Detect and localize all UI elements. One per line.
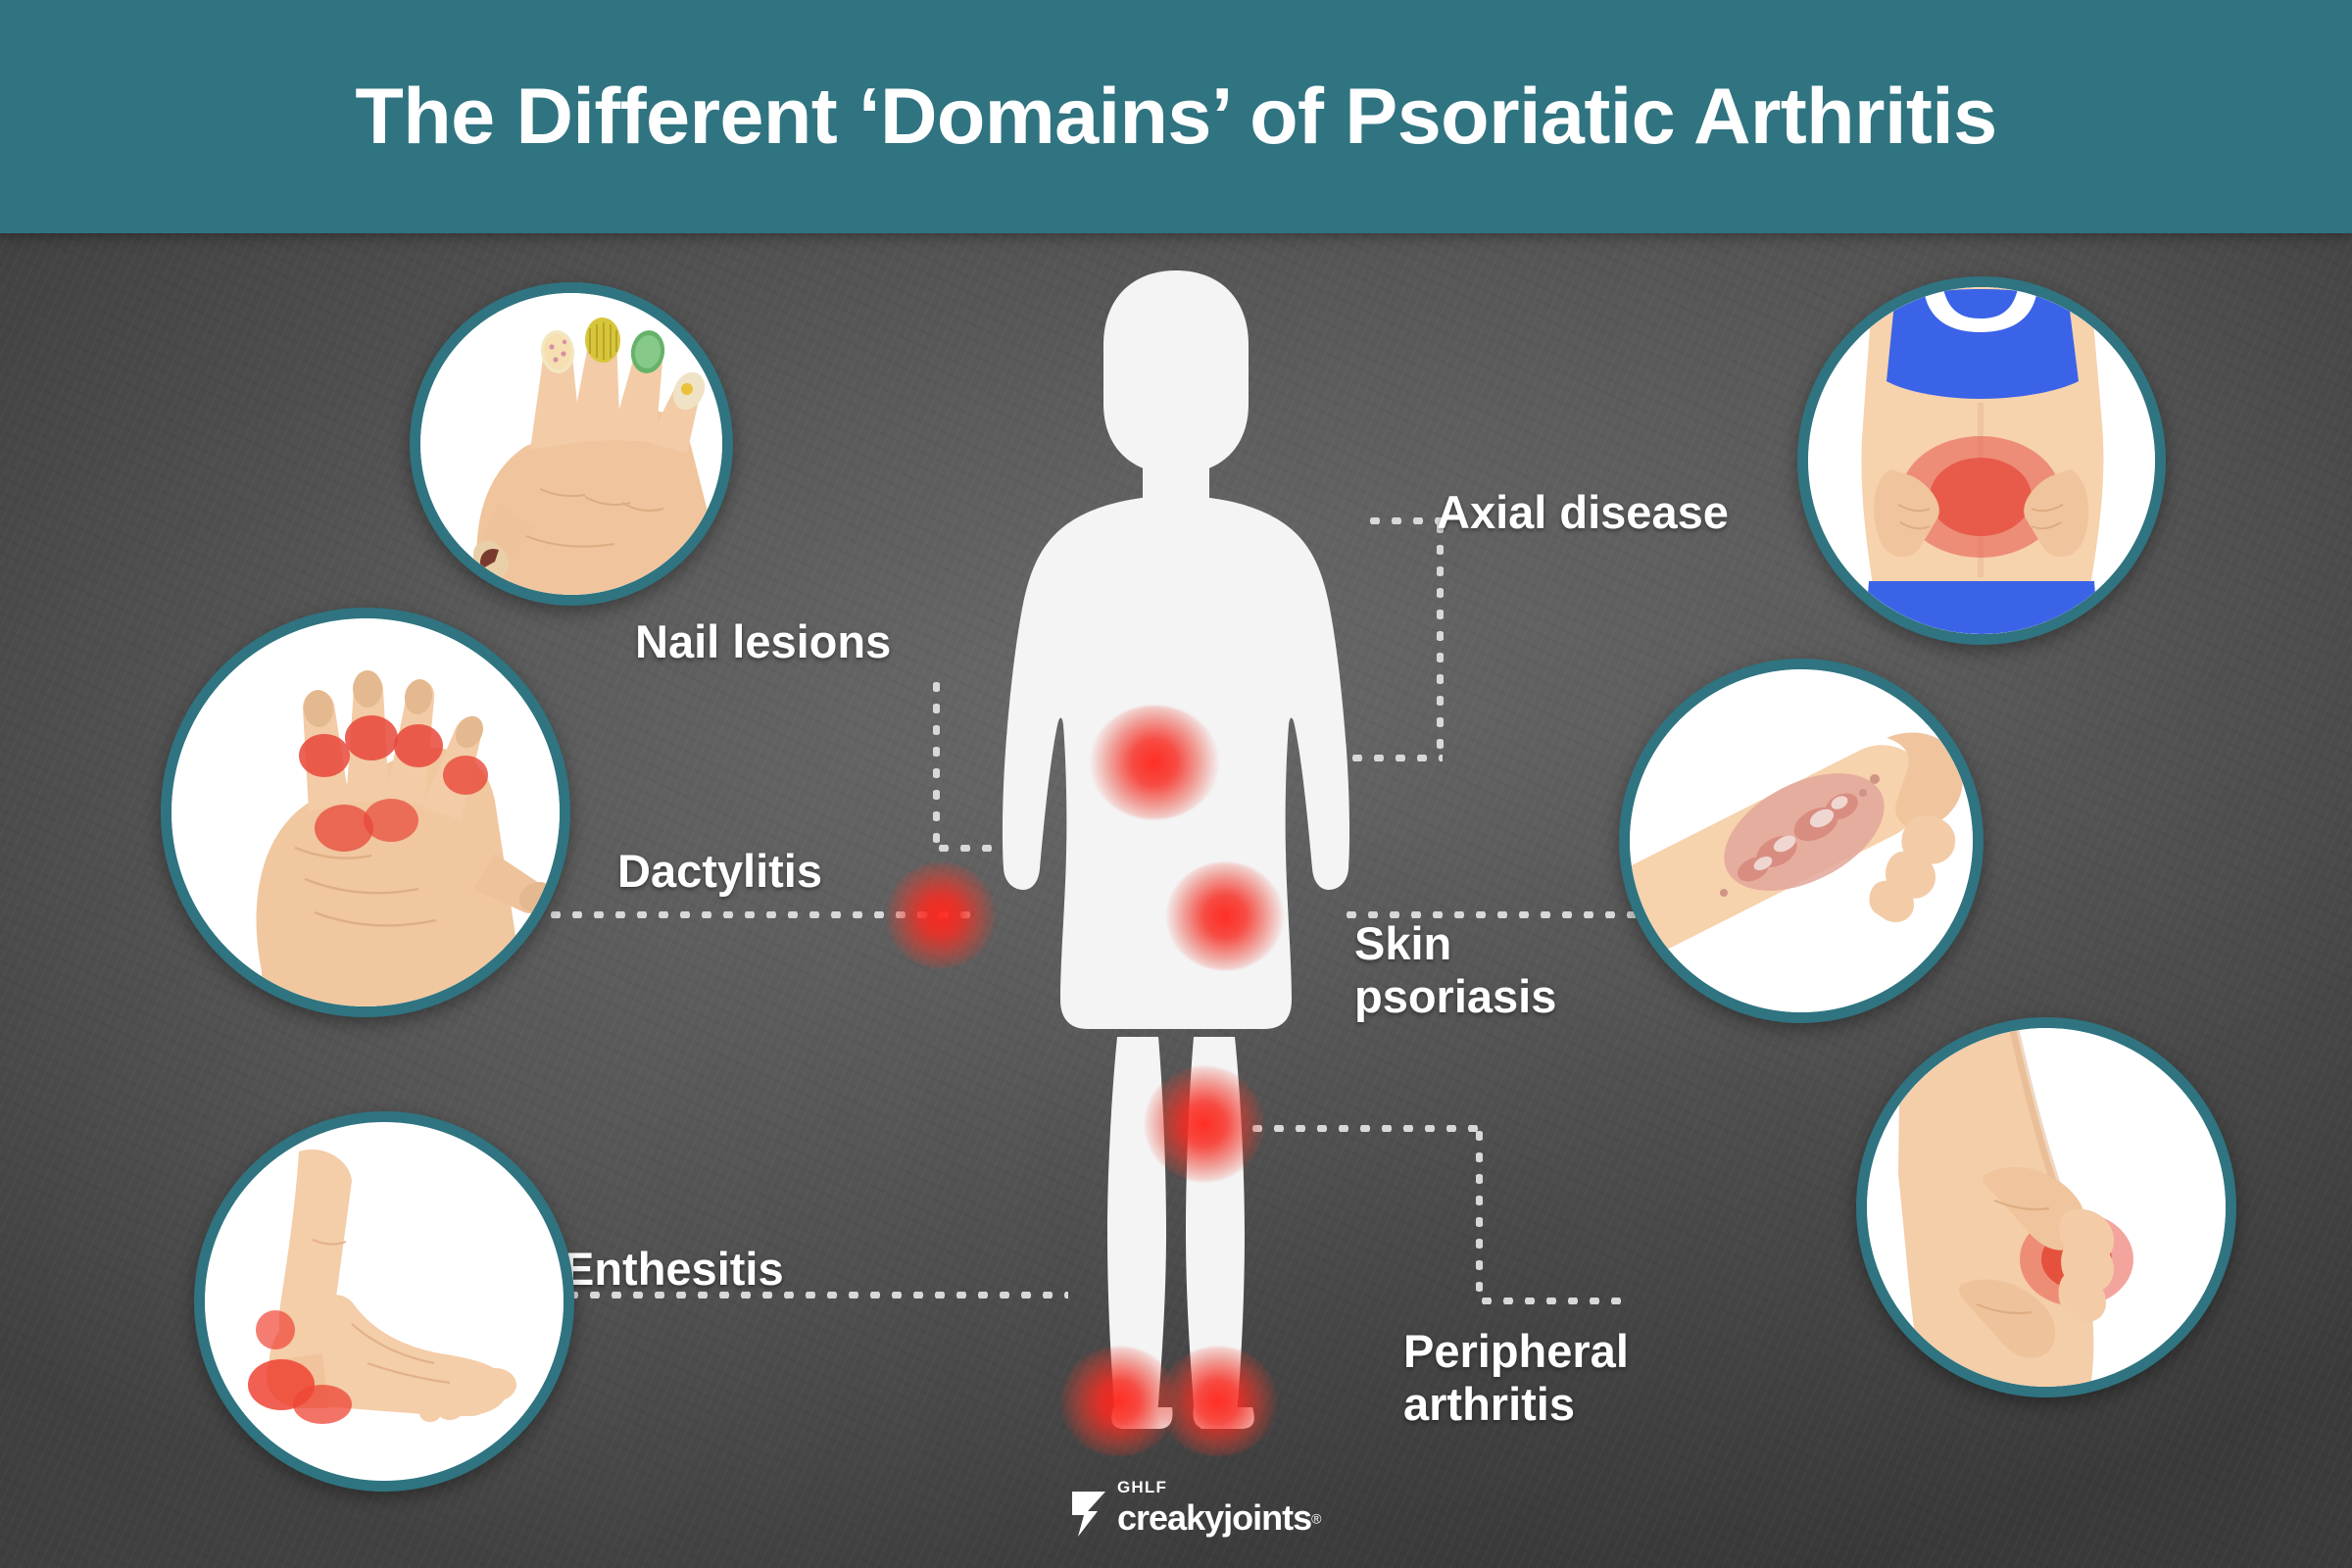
label-skin-psoriasis: Skin psoriasis <box>1354 917 1556 1022</box>
image-dactylitis <box>161 608 570 1017</box>
page-title: The Different ‘Domains’ of Psoriatic Art… <box>355 72 1996 163</box>
ghlf-mark-icon <box>1068 1488 1109 1539</box>
logo-org: GHLF <box>1117 1478 1321 1497</box>
logo-registered-mark: ® <box>1311 1511 1321 1527</box>
connector-dactylitis <box>545 911 976 918</box>
infographic-canvas: The Different ‘Domains’ of Psoriatic Art… <box>0 0 2352 1568</box>
label-enthesitis: Enthesitis <box>563 1243 784 1296</box>
logo-brand: creakyjoints <box>1117 1497 1311 1538</box>
label-peripheral-arthritis: Peripheral arthritis <box>1403 1325 1629 1430</box>
connector-peripheral-vertical <box>1476 1125 1483 1303</box>
connector-peripheral-lower <box>1476 1298 1633 1304</box>
connector-axial-vertical <box>1437 517 1444 760</box>
connector-nail-lesions-vertical <box>933 676 940 849</box>
header-banner: The Different ‘Domains’ of Psoriatic Art… <box>0 0 2352 233</box>
image-enthesitis <box>194 1111 574 1492</box>
label-axial-disease: Axial disease <box>1437 486 1729 539</box>
label-nail-lesions: Nail lesions <box>635 615 891 668</box>
brand-logo: GHLF creakyjoints® <box>1068 1478 1333 1546</box>
image-peripheral-arthritis <box>1856 1017 2236 1397</box>
image-skin-psoriasis <box>1619 659 1984 1023</box>
image-axial-disease <box>1797 276 2166 645</box>
image-nail-lesions <box>410 282 733 606</box>
label-dactylitis: Dactylitis <box>617 845 822 898</box>
body-silhouette <box>941 263 1411 1429</box>
